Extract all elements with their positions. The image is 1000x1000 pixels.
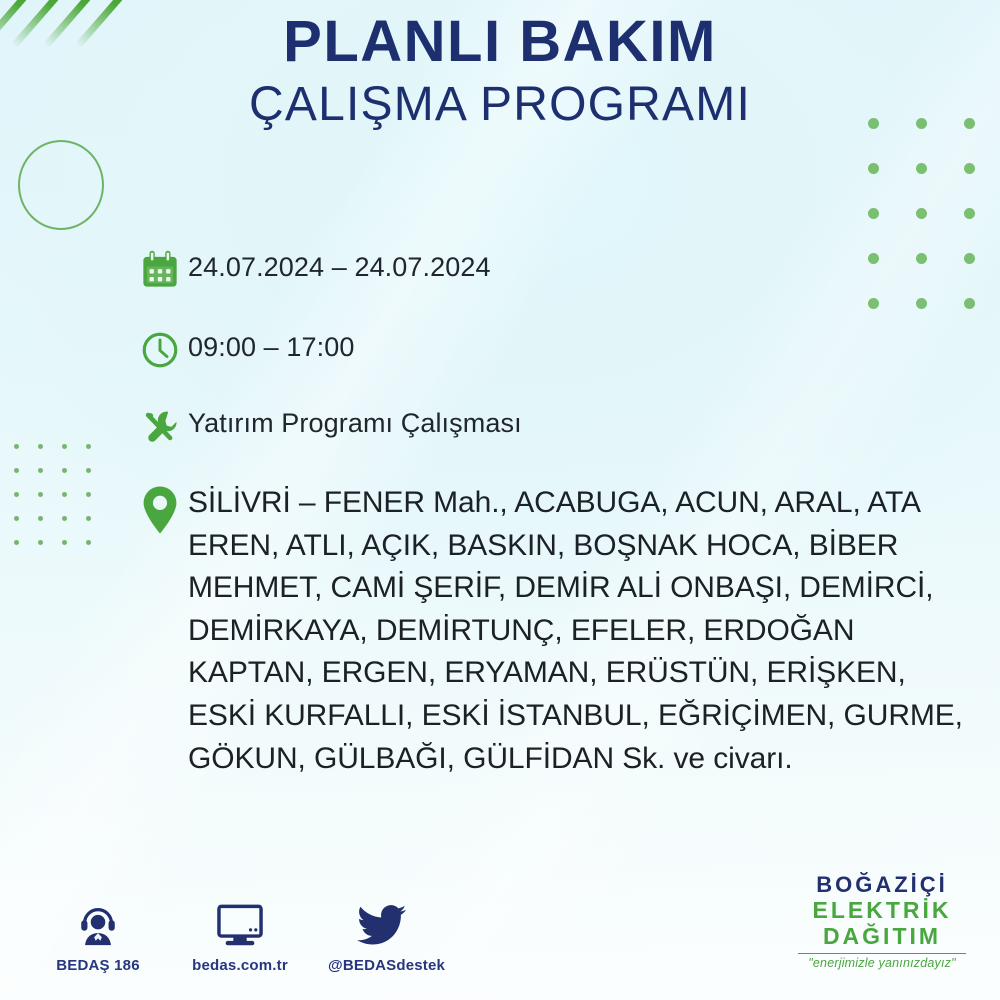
headset-support-icon — [44, 896, 152, 948]
contact-twitter[interactable]: @BEDASdestek — [328, 896, 436, 974]
tools-icon — [132, 400, 188, 452]
twitter-bird-icon — [328, 896, 436, 948]
brand-tagline: "enerjimizle yanınızdayız" — [792, 956, 972, 970]
clock-icon — [132, 324, 188, 376]
brand-line-3: DAĞITIM — [792, 924, 972, 950]
calendar-icon — [132, 244, 188, 296]
page-subtitle: ÇALIŞMA PROGRAMI — [0, 77, 1000, 134]
poster-header: PLANLI BAKIM ÇALIŞMA PROGRAMI — [0, 12, 1000, 134]
contact-phone[interactable]: BEDAŞ 186 — [44, 896, 152, 974]
company-logo: BOĞAZİÇİ ELEKTRİK DAĞITIM "enerjimizle y… — [792, 873, 972, 970]
dot-grid-left-decoration — [14, 444, 110, 564]
outage-work-type: Yatırım Programı Çalışması — [188, 400, 522, 441]
outage-details: 24.07.2024 – 24.07.2024 09:00 – 17:00 — [132, 244, 972, 806]
contact-channels: BEDAŞ 186 bedas.com.tr — [44, 896, 436, 974]
detail-row-work-type: Yatırım Programı Çalışması — [132, 400, 972, 452]
detail-row-date: 24.07.2024 – 24.07.2024 — [132, 244, 972, 296]
brand-divider — [798, 953, 966, 955]
map-pin-icon — [132, 482, 188, 536]
outage-address: SİLİVRİ – FENER Mah., ACABUGA, ACUN, ARA… — [188, 482, 972, 780]
poster-canvas: PLANLI BAKIM ÇALIŞMA PROGRAMI — [0, 0, 1000, 1000]
contact-website-label: bedas.com.tr — [186, 957, 294, 974]
contact-twitter-label: @BEDASdestek — [328, 957, 436, 974]
monitor-icon — [186, 896, 294, 948]
outage-time: 09:00 – 17:00 — [188, 324, 354, 365]
detail-row-address: SİLİVRİ – FENER Mah., ACABUGA, ACUN, ARA… — [132, 482, 972, 780]
circle-outline-decoration — [18, 140, 104, 230]
detail-row-time: 09:00 – 17:00 — [132, 324, 972, 376]
page-title: PLANLI BAKIM — [0, 12, 1000, 73]
brand-line-2: ELEKTRİK — [792, 898, 972, 924]
contact-website[interactable]: bedas.com.tr — [186, 896, 294, 974]
poster-footer: BEDAŞ 186 bedas.com.tr — [0, 864, 1000, 974]
outage-date: 24.07.2024 – 24.07.2024 — [188, 244, 491, 285]
brand-line-1: BOĞAZİÇİ — [792, 873, 972, 898]
contact-phone-label: BEDAŞ 186 — [44, 957, 152, 974]
